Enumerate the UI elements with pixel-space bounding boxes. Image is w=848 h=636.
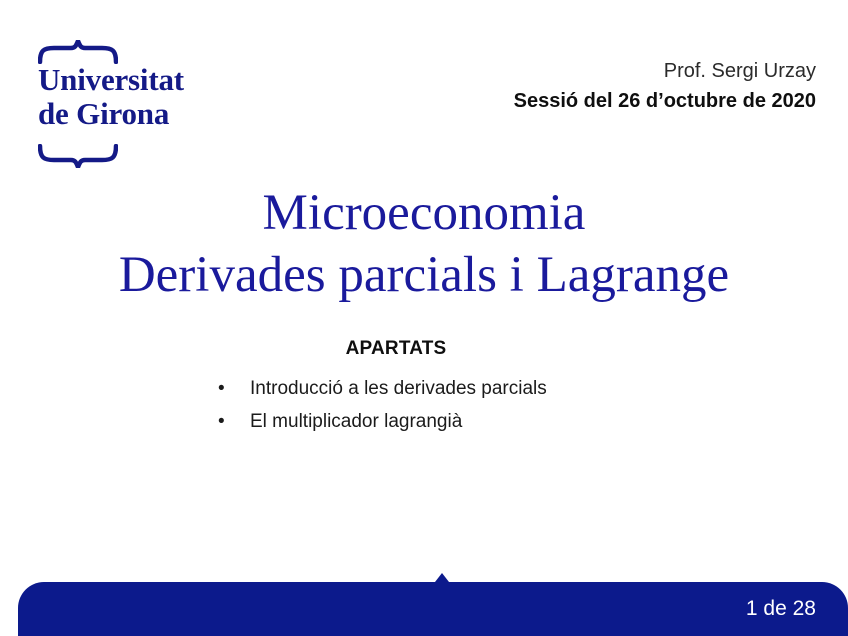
list-item: • Introducció a les derivades parcials bbox=[218, 372, 848, 405]
title-line-2: Derivades parcials i Lagrange bbox=[0, 244, 848, 306]
sections-outline: APARTATS • Introducció a les derivades p… bbox=[0, 338, 848, 438]
footer-peak-marker-icon bbox=[435, 573, 449, 582]
presenter-name: Prof. Sergi Urzay bbox=[514, 58, 816, 84]
bullet-dot-icon: • bbox=[218, 372, 250, 405]
logo-brace-bottom-icon bbox=[38, 144, 118, 168]
page-number: 1 de 28 bbox=[746, 597, 816, 621]
university-logo: Universitat de Girona bbox=[36, 40, 226, 168]
slide-canvas: Universitat de Girona Prof. Sergi Urzay … bbox=[0, 0, 848, 636]
list-item-label: Introducció a les derivades parcials bbox=[250, 372, 547, 405]
footer-bar: 1 de 28 bbox=[18, 582, 848, 636]
slide-title: Microeconomia Derivades parcials i Lagra… bbox=[0, 182, 848, 306]
logo-text-line-1: Universitat bbox=[38, 62, 184, 98]
logo-text-line-2: de Girona bbox=[38, 96, 169, 132]
sections-heading: APARTATS bbox=[0, 338, 848, 360]
session-date: Sessió del 26 d’octubre de 2020 bbox=[514, 88, 816, 114]
bullet-dot-icon: • bbox=[218, 405, 250, 438]
title-line-1: Microeconomia bbox=[0, 182, 848, 244]
list-item-label: El multiplicador lagrangià bbox=[250, 405, 462, 438]
header-meta: Prof. Sergi Urzay Sessió del 26 d’octubr… bbox=[514, 58, 816, 114]
sections-list: • Introducció a les derivades parcials •… bbox=[0, 372, 848, 438]
logo-brace-top-icon bbox=[38, 40, 118, 64]
list-item: • El multiplicador lagrangià bbox=[218, 405, 848, 438]
